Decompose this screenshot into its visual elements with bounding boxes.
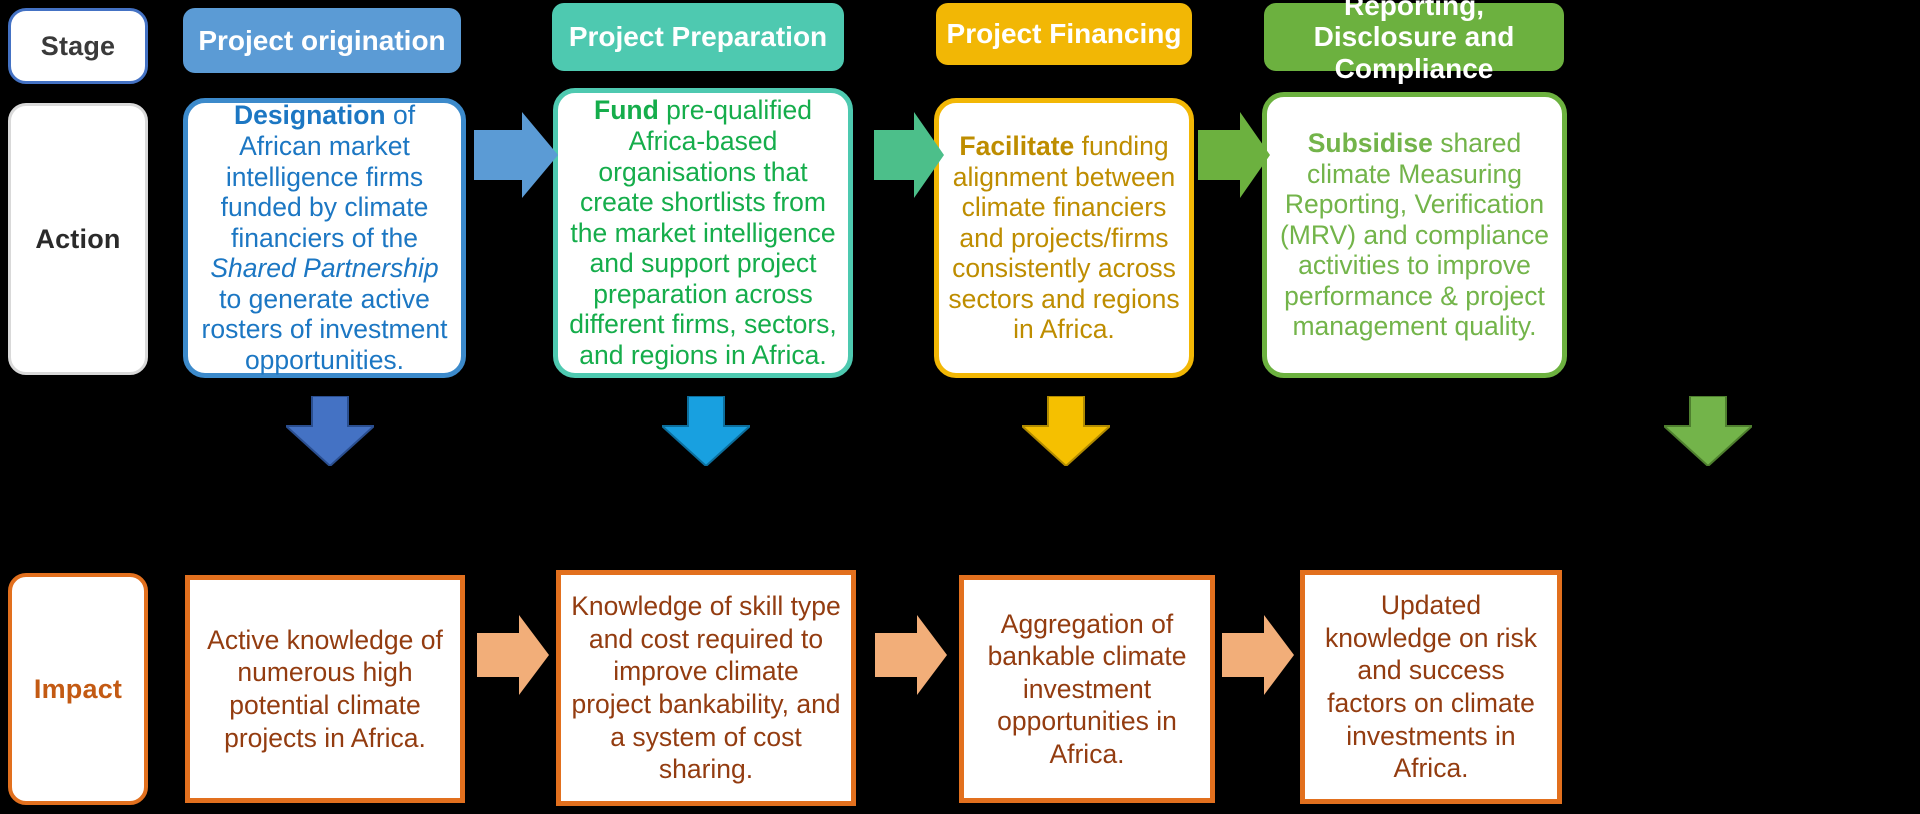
arrow-right-action-2 bbox=[874, 112, 944, 198]
action-card-4[interactable]: Subsidise shared climate Measuring Repor… bbox=[1262, 92, 1567, 378]
impact-card-3-text: Aggregation of bankable climate investme… bbox=[974, 608, 1200, 771]
arrow-right-action-1 bbox=[474, 112, 558, 198]
row-label-stage: Stage bbox=[8, 8, 148, 84]
impact-card-4[interactable]: Updated knowledge on risk and success fa… bbox=[1300, 570, 1562, 804]
action-card-2[interactable]: Fund pre-qualified Africa-based organisa… bbox=[553, 88, 853, 378]
stage-header-3-label: Project Financing bbox=[947, 18, 1182, 49]
stage-header-1-label: Project origination bbox=[198, 25, 445, 56]
arrow-right-impact-2 bbox=[875, 615, 947, 695]
action-card-1[interactable]: Designation of African market intelligen… bbox=[183, 98, 466, 378]
arrow-right-impact-1 bbox=[477, 615, 549, 695]
stage-header-4-label: Reporting, Disclosure and Compliance bbox=[1274, 0, 1554, 84]
row-label-impact: Impact bbox=[8, 573, 148, 805]
action-card-4-lead: Subsidise bbox=[1308, 128, 1433, 158]
row-label-action: Action bbox=[8, 103, 148, 375]
impact-card-4-text: Updated knowledge on risk and success fa… bbox=[1315, 589, 1547, 785]
stage-header-3[interactable]: Project Financing bbox=[936, 3, 1192, 65]
action-card-3-lead: Facilitate bbox=[959, 131, 1074, 161]
stage-header-1[interactable]: Project origination bbox=[183, 8, 461, 73]
action-card-1-emph: Shared Partnership bbox=[210, 253, 438, 283]
action-card-3[interactable]: Facilitate funding alignment between cli… bbox=[934, 98, 1194, 378]
arrow-right-impact-3 bbox=[1222, 615, 1294, 695]
stage-header-4[interactable]: Reporting, Disclosure and Compliance bbox=[1264, 3, 1564, 71]
stage-header-2[interactable]: Project Preparation bbox=[552, 3, 844, 71]
row-label-impact-text: Impact bbox=[34, 674, 122, 704]
stage-header-2-label: Project Preparation bbox=[569, 21, 827, 52]
arrow-right-action-3 bbox=[1198, 112, 1270, 198]
row-label-stage-text: Stage bbox=[41, 31, 116, 61]
arrow-down-stage-3 bbox=[1022, 396, 1110, 466]
impact-card-2[interactable]: Knowledge of skill type and cost require… bbox=[556, 570, 856, 806]
diagram-canvas: Stage Action Impact Project origination … bbox=[0, 0, 1920, 814]
action-card-1-lead: Designation bbox=[234, 100, 386, 130]
arrow-down-stage-2 bbox=[662, 396, 750, 466]
impact-card-2-text: Knowledge of skill type and cost require… bbox=[571, 590, 841, 786]
impact-card-3[interactable]: Aggregation of bankable climate investme… bbox=[959, 575, 1215, 803]
action-card-1-rest-b: to generate active rosters of investment… bbox=[202, 284, 448, 375]
row-label-action-text: Action bbox=[35, 224, 120, 254]
action-card-2-lead: Fund bbox=[594, 95, 659, 125]
arrow-down-stage-4 bbox=[1664, 396, 1752, 466]
action-card-3-rest-a: funding alignment between climate financ… bbox=[948, 131, 1179, 345]
action-card-2-rest-a: pre-qualified Africa-based organisations… bbox=[569, 95, 837, 370]
arrow-down-stage-1 bbox=[286, 396, 374, 466]
impact-card-1-text: Active knowledge of numerous high potent… bbox=[200, 624, 450, 754]
impact-card-1[interactable]: Active knowledge of numerous high potent… bbox=[185, 575, 465, 803]
action-card-4-rest-a: shared climate Measuring Reporting, Veri… bbox=[1280, 128, 1549, 342]
